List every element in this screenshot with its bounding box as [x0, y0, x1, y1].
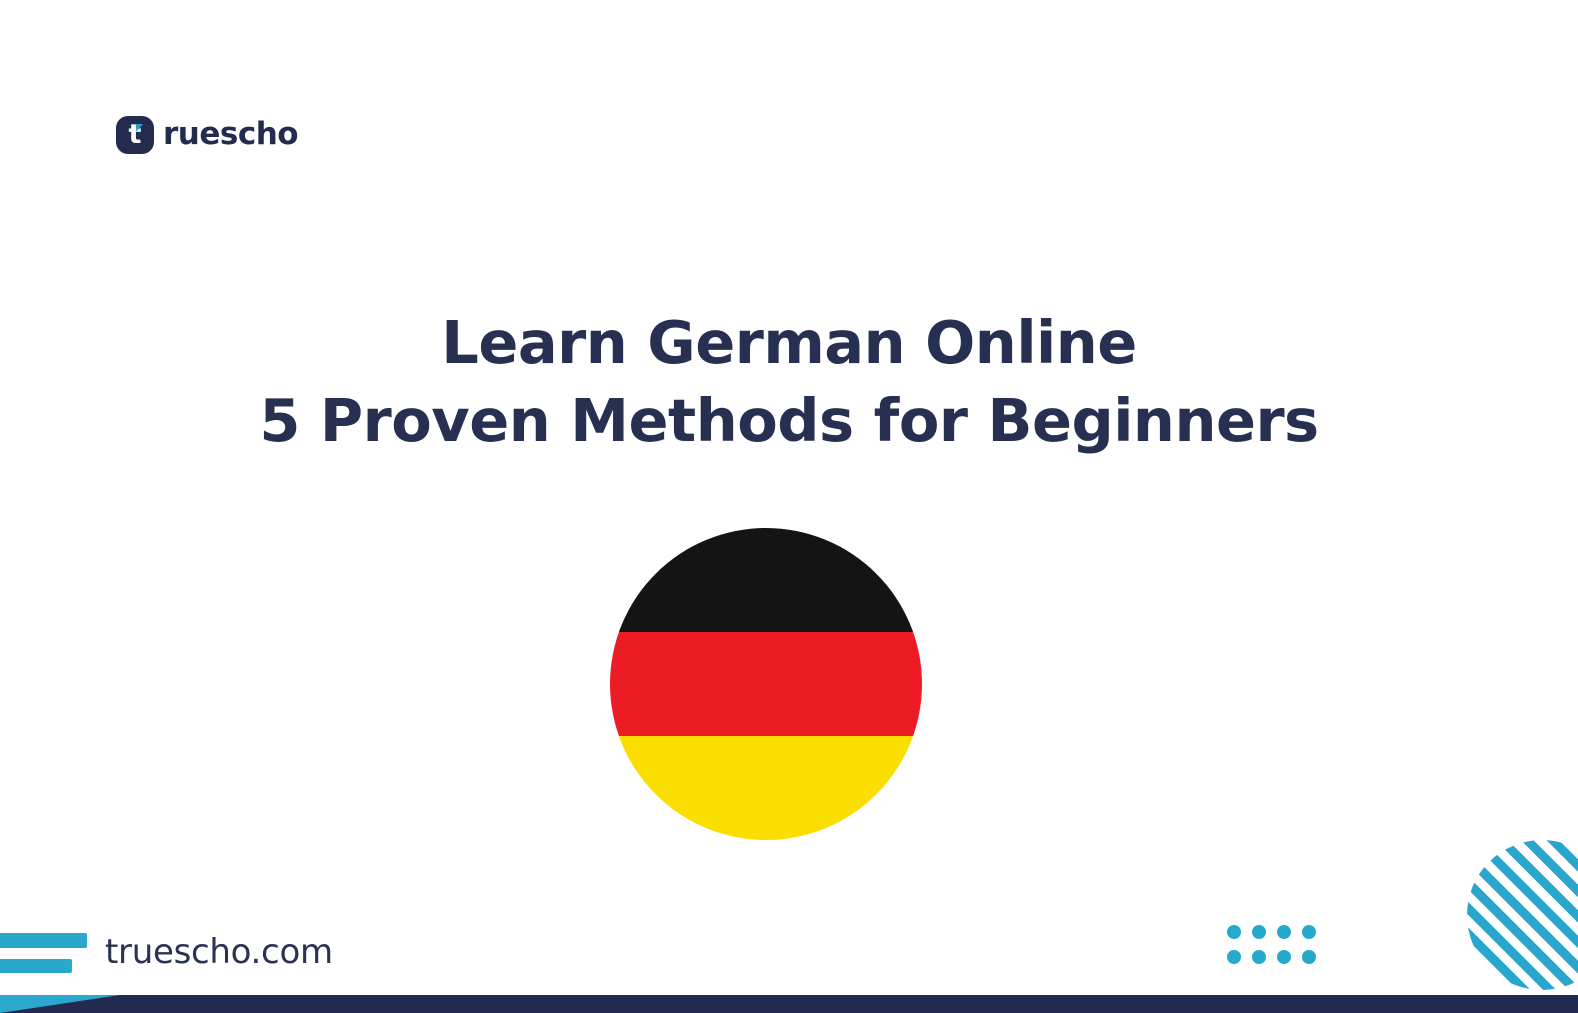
grid-dot [1302, 950, 1316, 964]
flag-band-black [610, 528, 922, 632]
slide-canvas: t ruescho Learn German Online 5 Proven M… [0, 0, 1578, 1013]
brand-accent-flag-icon [136, 124, 143, 132]
footer-bar-bottom [0, 959, 72, 973]
grid-dot [1252, 925, 1266, 939]
grid-dot [1277, 925, 1291, 939]
footer-url[interactable]: truescho.com [105, 930, 333, 974]
brand-logo[interactable]: t ruescho [116, 116, 298, 154]
german-flag-circle-icon [610, 528, 922, 840]
grid-dot [1252, 950, 1266, 964]
dot-grid-icon [1227, 925, 1316, 964]
brand-badge-letter: t [116, 116, 154, 154]
page-title-line-2: 5 Proven Methods for Beginners [0, 382, 1578, 460]
bottom-bar-accent-icon [0, 995, 120, 1013]
grid-dot [1227, 925, 1241, 939]
brand-wordmark: ruescho [163, 119, 298, 152]
flag-band-red [610, 632, 922, 736]
footer-bar-top [0, 933, 87, 948]
page-title-line-1: Learn German Online [0, 304, 1578, 382]
striped-circle-icon [1467, 840, 1578, 990]
flag-band-gold [610, 736, 922, 840]
footer-bars-icon [0, 933, 100, 973]
page-title: Learn German Online 5 Proven Methods for… [0, 304, 1578, 460]
grid-dot [1302, 925, 1316, 939]
grid-dot [1277, 950, 1291, 964]
bottom-bar [0, 995, 1578, 1013]
t-logo-icon: t [116, 116, 154, 154]
grid-dot [1227, 950, 1241, 964]
